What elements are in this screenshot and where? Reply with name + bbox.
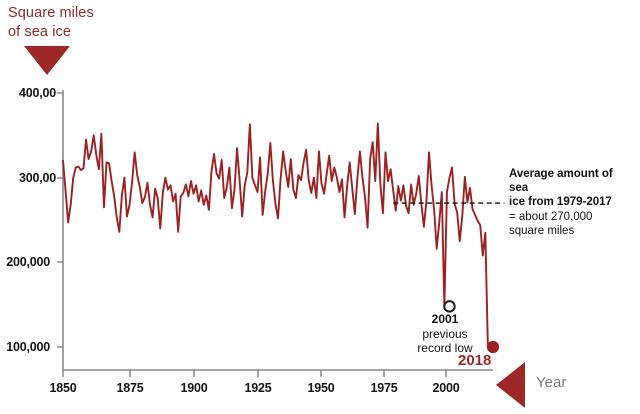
record-low-desc-line1: previous	[393, 327, 497, 342]
y-tick-label-0: 400,00	[0, 86, 56, 100]
record-low-year: 2001	[393, 312, 497, 327]
x-tick-label-1: 1875	[102, 381, 158, 395]
chart-root: Square miles of sea ice	[0, 0, 640, 414]
x-tick-label-6: 2000	[418, 381, 474, 395]
record-low-annotation: 2001 previous record low	[393, 312, 497, 356]
x-tick-label-4: 1950	[293, 381, 349, 395]
x-axis-arrow-icon	[496, 362, 525, 408]
x-tick-marks	[63, 370, 446, 377]
average-annotation-reg-line2: square miles	[509, 224, 635, 238]
average-annotation-reg-line1: = about 270,000	[509, 210, 635, 224]
x-axis-title: Year	[536, 374, 566, 391]
y-tick-label-3: 100,000	[0, 340, 50, 354]
final-year-label: 2018	[458, 352, 491, 369]
x-tick-label-0: 1850	[35, 381, 91, 395]
x-tick-label-3: 1925	[230, 381, 286, 395]
x-tick-label-5: 1975	[356, 381, 412, 395]
x-tick-label-2: 1900	[166, 381, 222, 395]
y-tick-marks	[57, 93, 63, 347]
y-tick-label-2: 200,000	[0, 255, 50, 269]
marker-2001-record-low	[444, 301, 454, 311]
average-annotation: Average amount of sea ice from 1979-2017…	[509, 167, 635, 238]
y-tick-label-1: 300,00	[0, 171, 56, 185]
average-annotation-bold-line2: ice from 1979-2017	[509, 195, 635, 209]
average-annotation-bold-line1: Average amount of sea	[509, 167, 635, 195]
